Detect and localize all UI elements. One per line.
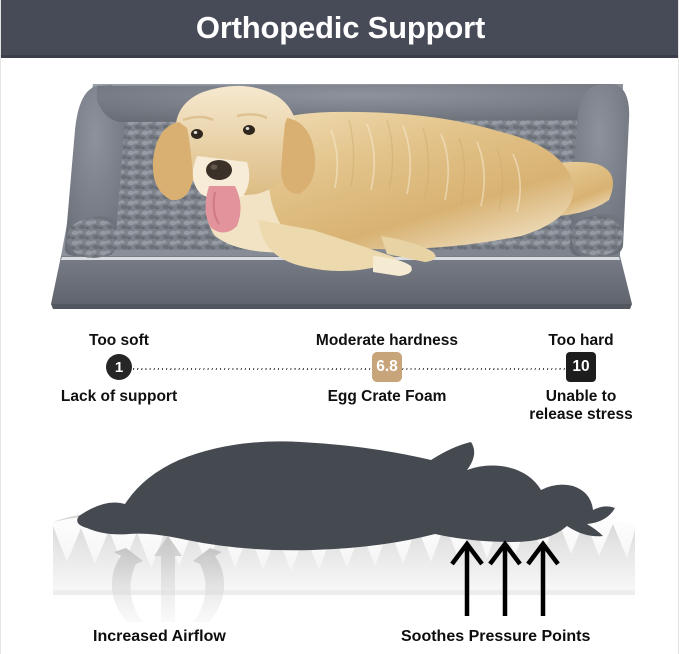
increased-airflow-label: Increased Airflow [93, 628, 226, 646]
scale-value-68-badge: 6.8 [372, 352, 402, 382]
scale-moderate-marker-row: 6.8 [267, 352, 507, 382]
scale-lack-of-support-label: Lack of support [19, 388, 219, 406]
scale-too-hard-label: Too hard [491, 332, 671, 349]
hardness-scale: Too soft 1 Lack of support Moderate hard… [1, 320, 679, 430]
scale-unable-release-stress-label-line1: Unable to [491, 388, 671, 406]
scale-soft-marker-row: 1 [19, 352, 219, 382]
scale-moderate-hardness-label: Moderate hardness [267, 332, 507, 349]
scale-value-1-badge: 1 [106, 354, 132, 380]
scale-hard-marker-row: 10 [491, 352, 671, 382]
product-photo [1, 60, 679, 315]
soothes-pressure-points-label: Soothes Pressure Points [401, 628, 590, 646]
header-banner: Orthopedic Support [1, 0, 679, 55]
egg-crate-foam-diagram [1, 430, 679, 625]
dog-on-bed-illustration [1, 60, 679, 315]
foam-caption-row: Increased Airflow Soothes Pressure Point… [1, 616, 679, 654]
scale-egg-crate-foam-label: Egg Crate Foam [267, 388, 507, 406]
scale-unable-release-stress-label-line2: release stress [491, 406, 671, 424]
pressure-arrows-icon [452, 544, 558, 616]
scale-value-10-badge: 10 [566, 352, 596, 382]
infographic-page: Orthopedic Support [0, 0, 679, 654]
foam-cross-section: Increased Airflow Soothes Pressure Point… [1, 430, 679, 654]
scale-point-too-soft: Too soft 1 Lack of support [19, 332, 219, 406]
scale-too-soft-label: Too soft [19, 332, 219, 349]
page-title: Orthopedic Support [196, 12, 485, 43]
scale-point-moderate: Moderate hardness 6.8 Egg Crate Foam [267, 332, 507, 406]
header-divider [1, 55, 679, 58]
scale-point-too-hard: Too hard 10 Unable to release stress [491, 332, 671, 424]
